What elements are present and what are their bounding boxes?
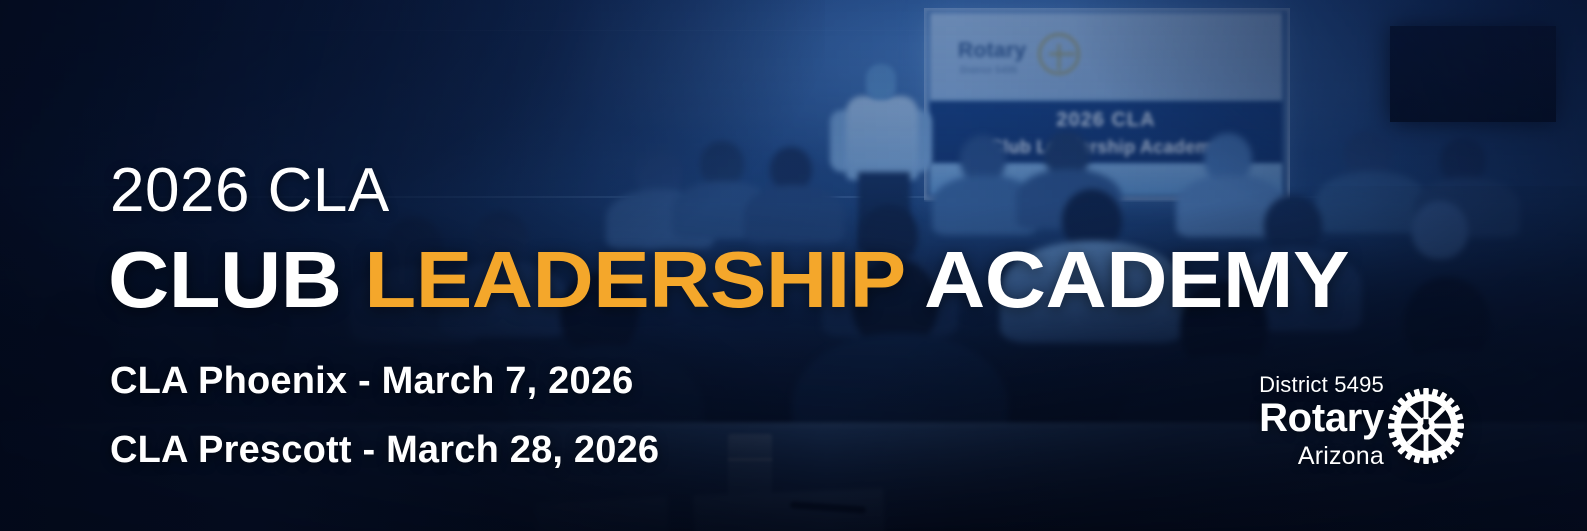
rotary-logo-lockup: District 5495 Rotary Arizona (1232, 368, 1464, 478)
cla-promo-banner: Rotary District 5495 2026 CLA Club Leade… (0, 0, 1587, 531)
rotary-district-label: District 5495 (1259, 372, 1384, 398)
headline-word-leadership: LEADERSHIP (364, 235, 904, 324)
rotary-wordmark: Rotary (1259, 398, 1384, 438)
eyebrow-title: 2026 CLA (110, 160, 390, 222)
event-date-phoenix: CLA Phoenix - March 7, 2026 (110, 362, 633, 400)
banner-content: 2026 CLA CLUB LEADERSHIP ACADEMY CLA Pho… (0, 0, 1587, 531)
rotary-gear-wheel-icon (1388, 388, 1464, 464)
event-date-prescott: CLA Prescott - March 28, 2026 (110, 431, 659, 469)
headline-word-academy: ACADEMY (904, 235, 1349, 324)
headline-word-club: CLUB (108, 235, 364, 324)
headline: CLUB LEADERSHIP ACADEMY (108, 240, 1349, 320)
rotary-state-label: Arizona (1298, 444, 1384, 469)
